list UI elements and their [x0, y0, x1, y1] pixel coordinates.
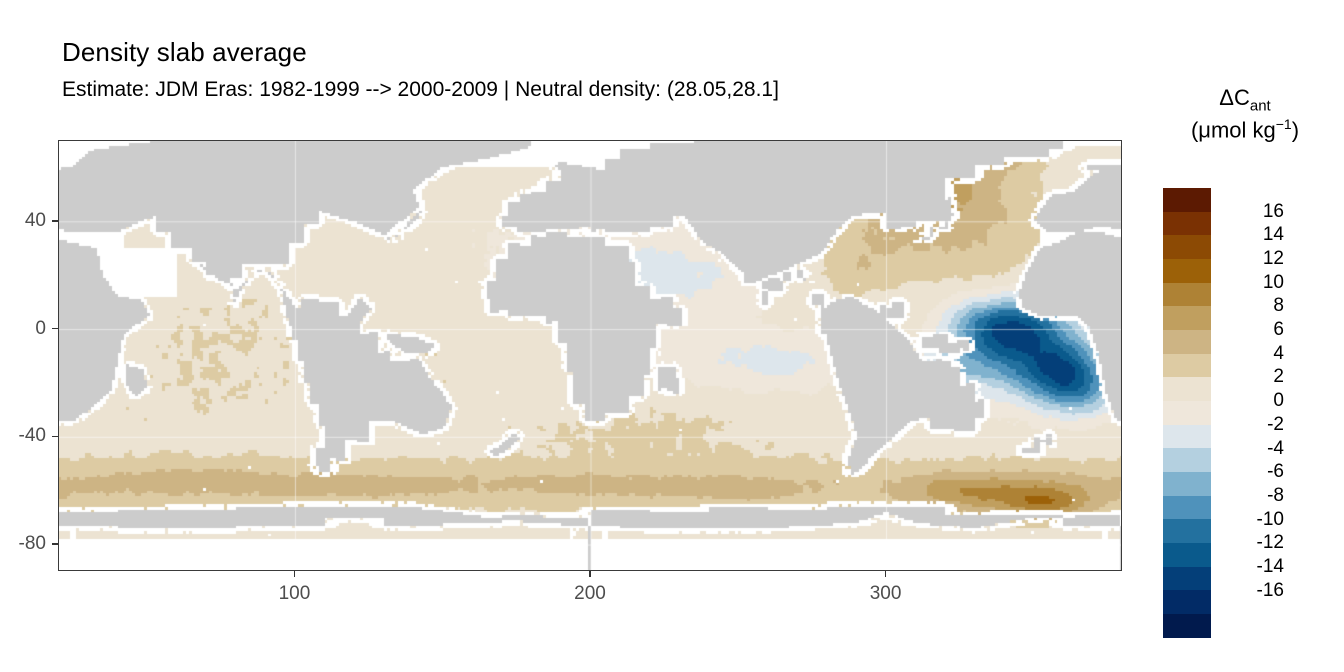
colorbar-swatch — [1163, 330, 1211, 354]
colorbar-tick-label: -12 — [1222, 532, 1284, 554]
colorbar-swatch — [1163, 377, 1211, 401]
colorbar-swatch — [1163, 590, 1211, 614]
colorbar-tick-label: 0 — [1222, 390, 1284, 412]
colorbar-tick-label: 16 — [1222, 201, 1284, 223]
colorbar-swatch — [1163, 283, 1211, 307]
legend-units-exponent: −1 — [1276, 116, 1292, 132]
colorbar-swatch — [1163, 496, 1211, 520]
plot-panel-wrapper: 400-40-80100200300 — [58, 140, 1122, 571]
colorbar-swatch — [1163, 614, 1211, 638]
colorbar-swatch — [1163, 306, 1211, 330]
colorbar-swatch — [1163, 259, 1211, 283]
legend-title-main: ΔC — [1219, 85, 1250, 110]
colorbar-labels: 1614121086420-2-4-6-8-10-12-14-16 — [1222, 188, 1332, 638]
colorbar-swatch — [1163, 401, 1211, 425]
colorbar-tick-label: -4 — [1222, 438, 1284, 460]
colorbar-tick-label: 2 — [1222, 366, 1284, 388]
y-axis-tick-label: 0 — [0, 318, 46, 340]
plot-subtitle: Estimate: JDM Eras: 1982-1999 --> 2000-2… — [62, 78, 779, 101]
y-axis-tick-label: -40 — [0, 425, 46, 447]
colorbar-swatch — [1163, 212, 1211, 236]
colorbar-swatch — [1163, 354, 1211, 378]
y-axis-tick-label: 40 — [0, 210, 46, 232]
x-axis-tick-label: 100 — [279, 583, 311, 605]
page-title: Density slab average — [62, 38, 779, 67]
x-axis-tick — [885, 571, 886, 577]
colorbar-swatch — [1163, 567, 1211, 591]
x-axis-tick — [589, 571, 590, 577]
map-panel — [58, 140, 1122, 571]
colorbar-tick-label: 12 — [1222, 248, 1284, 270]
y-axis-tick — [52, 436, 58, 437]
colorbar-tick-label: -10 — [1222, 509, 1284, 531]
legend-units-text: (μmol kg — [1191, 117, 1276, 142]
x-axis-tick — [294, 571, 295, 577]
colorbar-tick-label: -2 — [1222, 414, 1284, 436]
legend: ΔCant (μmol kg−1) 1614121086420-2-4-6-8-… — [1152, 84, 1338, 654]
legend-title-subscript: ant — [1250, 97, 1271, 114]
chart-root: Density slab average Estimate: JDM Eras:… — [0, 0, 1344, 672]
y-axis-tick-label: -80 — [0, 533, 46, 555]
colorbar-swatch — [1163, 448, 1211, 472]
colorbar-swatch — [1163, 235, 1211, 259]
y-axis-tick — [52, 543, 58, 544]
colorbar-tick-label: 14 — [1222, 224, 1284, 246]
legend-title: ΔCant — [1152, 84, 1338, 116]
colorbar-swatch — [1163, 188, 1211, 212]
colorbar-tick-label: -6 — [1222, 461, 1284, 483]
colorbar-tick-label: -8 — [1222, 485, 1284, 507]
colorbar-tick-label: -16 — [1222, 580, 1284, 602]
colorbar-tick-label: 6 — [1222, 319, 1284, 341]
colorbar-tick-label: 8 — [1222, 295, 1284, 317]
colorbar-tick-label: 4 — [1222, 343, 1284, 365]
colorbar-tick-label: -14 — [1222, 556, 1284, 578]
colorbar-swatch — [1163, 472, 1211, 496]
colorbar-tick-label: 10 — [1222, 272, 1284, 294]
y-axis-tick — [52, 328, 58, 329]
colorbar — [1163, 188, 1211, 638]
legend-units-close: ) — [1292, 117, 1299, 142]
title-block: Density slab average Estimate: JDM Eras:… — [62, 38, 779, 101]
colorbar-swatch — [1163, 543, 1211, 567]
colorbar-swatch — [1163, 519, 1211, 543]
colorbar-swatch — [1163, 425, 1211, 449]
x-axis-tick-label: 200 — [574, 583, 606, 605]
map-heatmap-canvas — [59, 141, 1122, 571]
y-axis-tick — [52, 220, 58, 221]
legend-units: (μmol kg−1) — [1152, 116, 1338, 144]
x-axis-tick-label: 300 — [870, 583, 902, 605]
